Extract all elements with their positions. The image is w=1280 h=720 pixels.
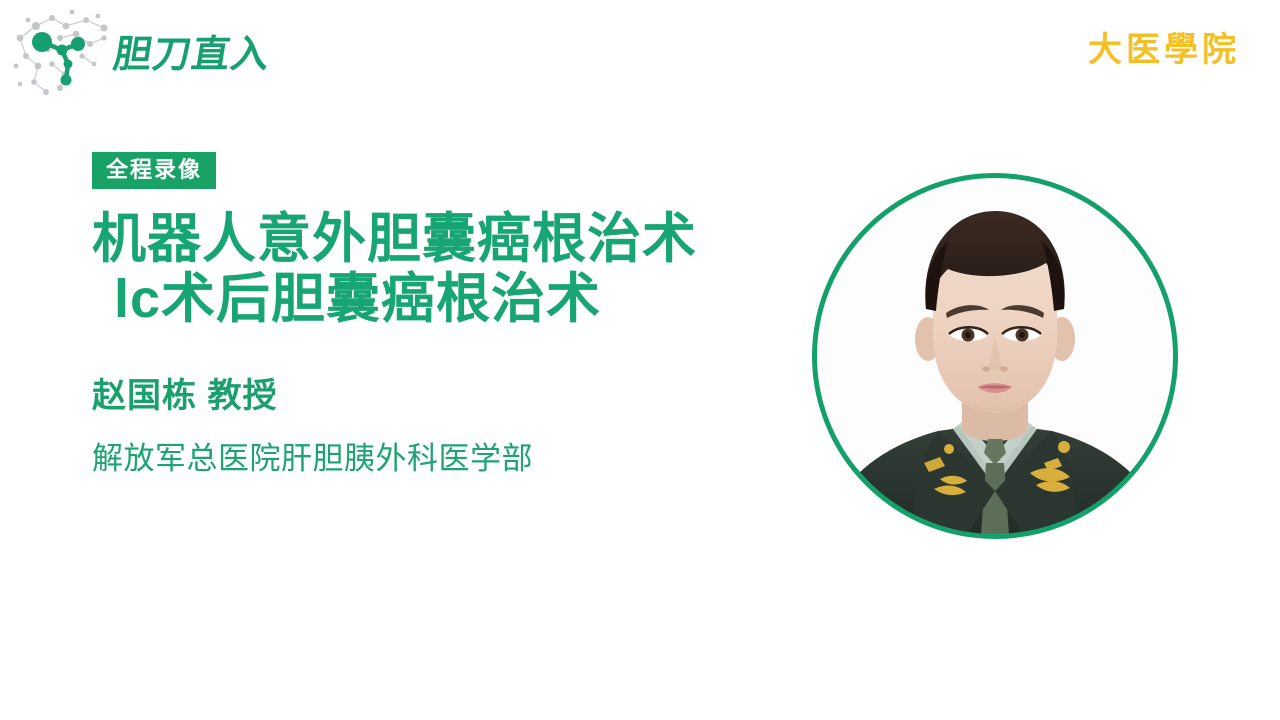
academy-logo: 大医學院: [1088, 22, 1240, 71]
title-line-2: lc术后胆囊癌根治术: [92, 269, 852, 329]
title-line-1: 机器人意外胆囊癌根治术: [92, 209, 852, 269]
portrait-image: [816, 177, 1174, 535]
brand-name: 胆刀直入: [111, 35, 273, 73]
brand-logo: 胆刀直入: [8, 4, 308, 104]
presenter-portrait: [812, 173, 1178, 539]
page-title: 机器人意外胆囊癌根治术 lc术后胆囊癌根治术: [92, 209, 852, 330]
presenter-name: 赵国栋 教授: [92, 368, 852, 417]
network-nodes-icon: [8, 4, 116, 104]
content-block: 全程录像 机器人意外胆囊癌根治术 lc术后胆囊癌根治术 赵国栋 教授 解放军总医…: [92, 152, 852, 478]
presenter-affiliation: 解放军总医院肝胆胰外科医学部: [92, 433, 852, 478]
slide-root: 胆刀直入 大医學院 全程录像 机器人意外胆囊癌根治术 lc术后胆囊癌根治术 赵国…: [0, 0, 1280, 720]
recording-badge: 全程录像: [92, 152, 216, 189]
